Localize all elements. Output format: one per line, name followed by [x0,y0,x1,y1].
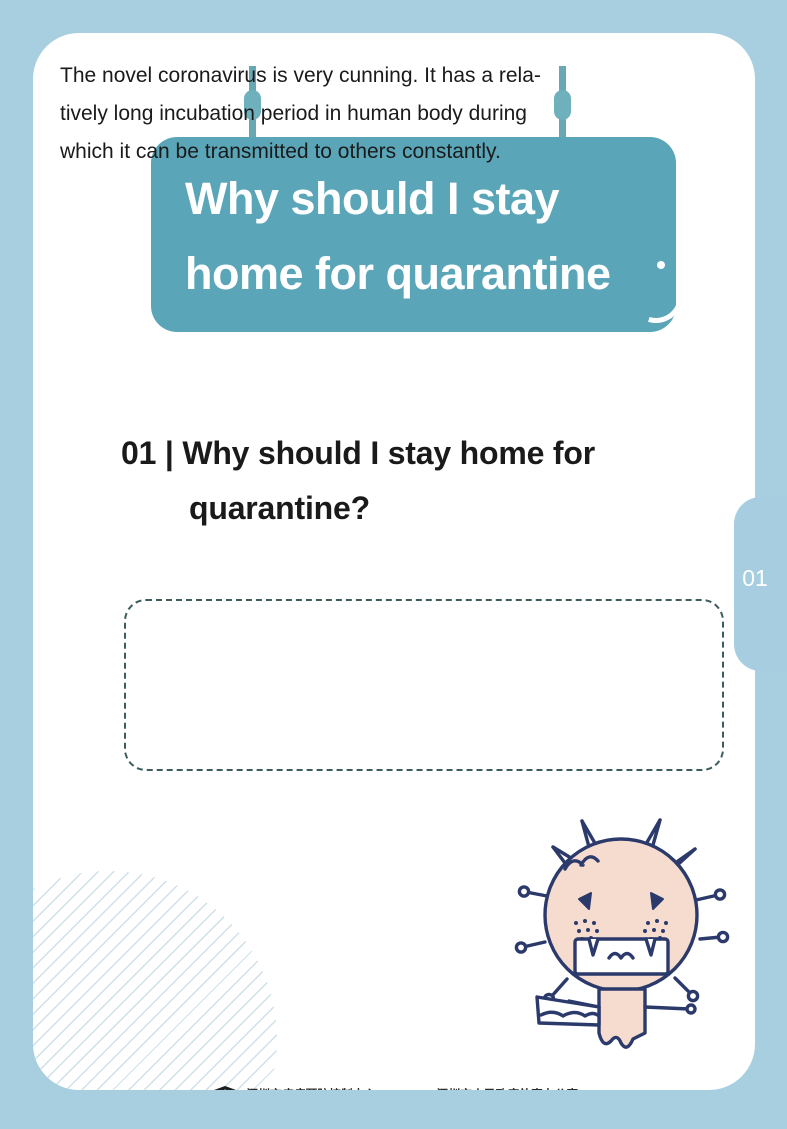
answer-text: The novel coronavirus is very cunning. I… [60,57,608,171]
section-heading-line1: 01 | Why should I stay home for [121,435,595,471]
shield-cdc-logo-icon [210,1084,240,1090]
poster-card: Why should I stay home for quarantine 01… [33,33,755,1090]
decorative-striped-circle [33,871,277,1090]
section-heading-line2: quarantine? [121,481,681,536]
footer-org-cdc: 深圳市疾病预防控制中心 SHENZHEN CENTER FOR DISEASE … [210,1084,391,1090]
angry-coronavirus-mascot-icon [503,811,735,1056]
banner-title: Why should I stay home for quarantine [151,161,676,311]
section-heading: 01 | Why should I stay home for quaranti… [121,426,681,536]
page-number-tab-label: 01 [734,565,776,592]
answer-box [124,599,724,771]
page-number-tab[interactable]: 01 [734,497,787,671]
footer: 深圳市疾病预防控制中心 SHENZHEN CENTER FOR DISEASE … [33,1075,755,1090]
